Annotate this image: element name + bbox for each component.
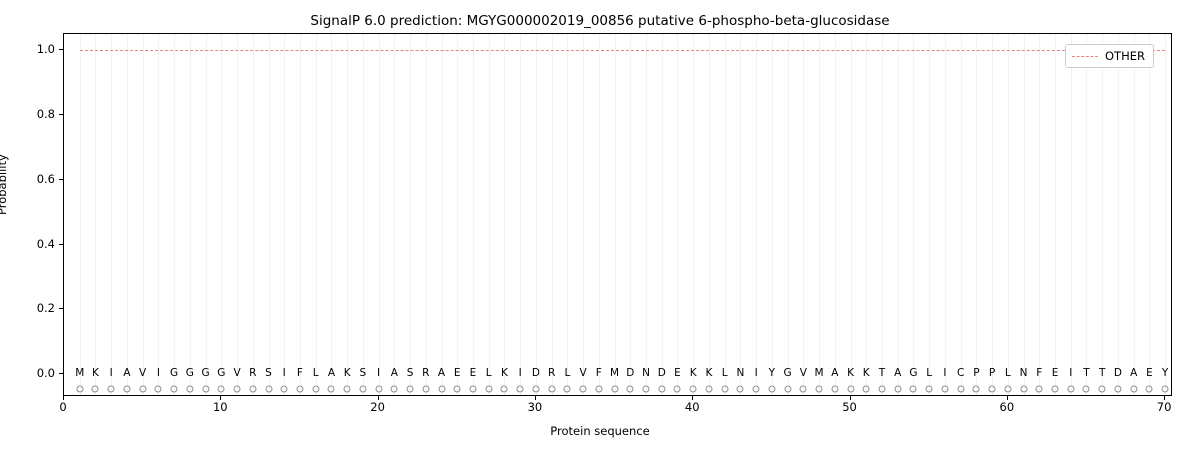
sequence-residue: I [110, 368, 113, 379]
sequence-residue: I [377, 368, 380, 379]
gridline [95, 34, 96, 395]
residue-marker [674, 385, 681, 392]
gridline [583, 34, 584, 395]
gridline [504, 34, 505, 395]
gridline [851, 34, 852, 395]
residue-marker [595, 385, 602, 392]
sequence-residue: N [1020, 368, 1028, 379]
y-tick-label: 0.4 [22, 237, 55, 251]
sequence-residue: S [265, 368, 272, 379]
series-line-other [80, 50, 1165, 51]
gridline [520, 34, 521, 395]
x-tick-label: 10 [213, 400, 228, 414]
residue-marker [1099, 385, 1106, 392]
residue-marker [863, 385, 870, 392]
x-tick-mark [692, 396, 693, 400]
residue-marker [249, 385, 256, 392]
gridline [331, 34, 332, 395]
residue-marker [690, 385, 697, 392]
sequence-residue: I [943, 368, 946, 379]
gridline [174, 34, 175, 395]
sequence-residue: K [690, 368, 697, 379]
residue-marker [910, 385, 917, 392]
sequence-residue: K [344, 368, 351, 379]
sequence-residue: D [626, 368, 634, 379]
residue-marker [312, 385, 319, 392]
residue-marker [1162, 385, 1169, 392]
sequence-residue: K [501, 368, 508, 379]
residue-marker [454, 385, 461, 392]
residue-marker [1067, 385, 1074, 392]
x-tick-label: 40 [685, 400, 700, 414]
y-tick-label: 0.2 [22, 301, 55, 315]
residue-marker [1052, 385, 1059, 392]
gridline [206, 34, 207, 395]
gridline [1149, 34, 1150, 395]
sequence-residue: I [157, 368, 160, 379]
y-tick-mark [59, 373, 63, 374]
gridline [316, 34, 317, 395]
sequence-residue: S [360, 368, 367, 379]
gridline [347, 34, 348, 395]
gridline [253, 34, 254, 395]
x-tick-mark [535, 396, 536, 400]
x-tick-mark [378, 396, 379, 400]
gridline [190, 34, 191, 395]
residue-marker [234, 385, 241, 392]
residue-marker [344, 385, 351, 392]
residue-marker [1130, 385, 1137, 392]
sequence-residue: L [926, 368, 932, 379]
x-axis-label: Protein sequence [0, 424, 1200, 438]
y-tick-label: 0.0 [22, 366, 55, 380]
x-tick-label: 0 [59, 400, 66, 414]
residue-marker [894, 385, 901, 392]
residue-marker [391, 385, 398, 392]
residue-marker [705, 385, 712, 392]
residue-marker [1004, 385, 1011, 392]
sequence-residue: A [831, 368, 838, 379]
sequence-residue: Y [769, 368, 775, 379]
gridline [300, 34, 301, 395]
gridline [442, 34, 443, 395]
gridline [615, 34, 616, 395]
residue-marker [941, 385, 948, 392]
sequence-residue: T [1099, 368, 1105, 379]
gridline [677, 34, 678, 395]
sequence-residue: I [519, 368, 522, 379]
residue-marker [989, 385, 996, 392]
gridline [725, 34, 726, 395]
gridline [284, 34, 285, 395]
residue-marker [438, 385, 445, 392]
gridline [1071, 34, 1072, 395]
sequence-residue: V [580, 368, 587, 379]
residue-marker [407, 385, 414, 392]
legend-line-other [1072, 56, 1098, 57]
sequence-residue: M [610, 368, 619, 379]
sequence-residue: L [722, 368, 728, 379]
residue-marker [123, 385, 130, 392]
sequence-residue: V [233, 368, 240, 379]
residue-marker [76, 385, 83, 392]
x-tick-mark [850, 396, 851, 400]
gridline [394, 34, 395, 395]
residue-marker [328, 385, 335, 392]
y-tick-label: 0.6 [22, 172, 55, 186]
sequence-residue: D [532, 368, 540, 379]
x-tick-label: 60 [1000, 400, 1015, 414]
sequence-residue: S [407, 368, 414, 379]
gridline [630, 34, 631, 395]
residue-marker [281, 385, 288, 392]
gridline [269, 34, 270, 395]
gridline [819, 34, 820, 395]
sequence-residue: F [297, 368, 303, 379]
residue-marker [218, 385, 225, 392]
gridline [221, 34, 222, 395]
residue-marker [564, 385, 571, 392]
gridline [898, 34, 899, 395]
gridline [1102, 34, 1103, 395]
sequence-residue: R [548, 368, 555, 379]
residue-marker [768, 385, 775, 392]
legend[interactable]: OTHER [1065, 44, 1154, 68]
sequence-residue: K [847, 368, 854, 379]
gridline [992, 34, 993, 395]
sequence-residue: A [1130, 368, 1137, 379]
gridline [756, 34, 757, 395]
gridline [709, 34, 710, 395]
residue-marker [155, 385, 162, 392]
sequence-residue: G [201, 368, 209, 379]
gridline [945, 34, 946, 395]
x-tick-label: 50 [842, 400, 857, 414]
gridline [158, 34, 159, 395]
sequence-residue: N [642, 368, 650, 379]
sequence-residue: A [438, 368, 445, 379]
gridline [772, 34, 773, 395]
gridline [457, 34, 458, 395]
sequence-residue: K [863, 368, 870, 379]
sequence-residue: M [75, 368, 84, 379]
gridline [552, 34, 553, 395]
residue-marker [265, 385, 272, 392]
y-tick-mark [59, 49, 63, 50]
signalp-prediction-figure: SignalP 6.0 prediction: MGYG000002019_00… [0, 0, 1200, 450]
sequence-residue: I [283, 368, 286, 379]
sequence-residue: Y [1162, 368, 1168, 379]
residue-marker [816, 385, 823, 392]
sequence-residue: F [1036, 368, 1042, 379]
sequence-residue: P [973, 368, 979, 379]
residue-marker [359, 385, 366, 392]
gridline [1039, 34, 1040, 395]
sequence-residue: A [328, 368, 335, 379]
residue-marker [296, 385, 303, 392]
gridline [1134, 34, 1135, 395]
gridline [803, 34, 804, 395]
sequence-residue: K [92, 368, 99, 379]
sequence-residue: R [422, 368, 429, 379]
residue-marker [737, 385, 744, 392]
sequence-residue: E [674, 368, 681, 379]
gridline [662, 34, 663, 395]
residue-marker [611, 385, 618, 392]
gridline [410, 34, 411, 395]
sequence-residue: G [217, 368, 225, 379]
sequence-residue: N [736, 368, 744, 379]
sequence-residue: R [249, 368, 256, 379]
residue-marker [108, 385, 115, 392]
gridline [1008, 34, 1009, 395]
x-tick-label: 20 [370, 400, 385, 414]
residue-marker [92, 385, 99, 392]
gridline [379, 34, 380, 395]
residue-marker [800, 385, 807, 392]
residue-marker [485, 385, 492, 392]
sequence-residue: C [957, 368, 964, 379]
y-tick-mark [59, 308, 63, 309]
residue-marker [501, 385, 508, 392]
sequence-residue: L [564, 368, 570, 379]
gridline [929, 34, 930, 395]
sequence-residue: D [1114, 368, 1122, 379]
gridline [866, 34, 867, 395]
residue-marker [1146, 385, 1153, 392]
residue-marker [878, 385, 885, 392]
gridline [1086, 34, 1087, 395]
sequence-residue: G [784, 368, 792, 379]
gridline [127, 34, 128, 395]
gridline [1118, 34, 1119, 395]
residue-marker [831, 385, 838, 392]
residue-marker [1114, 385, 1121, 392]
residue-marker [532, 385, 539, 392]
residue-marker [580, 385, 587, 392]
sequence-residue: G [909, 368, 917, 379]
residue-marker [658, 385, 665, 392]
y-tick-mark [59, 179, 63, 180]
legend-label-other: OTHER [1105, 49, 1145, 63]
y-tick-label: 1.0 [22, 42, 55, 56]
plot-area: MKIAVIGGGGVRSIFLAKSIASRAEELKIDRLVFMDNDEK… [63, 33, 1172, 396]
sequence-residue: F [596, 368, 602, 379]
sequence-residue: G [186, 368, 194, 379]
sequence-residue: A [894, 368, 901, 379]
residue-marker [627, 385, 634, 392]
y-tick-mark [59, 244, 63, 245]
residue-marker [957, 385, 964, 392]
sequence-residue: L [313, 368, 319, 379]
residue-marker [643, 385, 650, 392]
residue-marker [1020, 385, 1027, 392]
y-axis-label: Probability [0, 154, 9, 215]
residue-marker [517, 385, 524, 392]
gridline [426, 34, 427, 395]
sequence-residue: E [1052, 368, 1059, 379]
residue-marker [847, 385, 854, 392]
x-tick-mark [1164, 396, 1165, 400]
residue-marker [186, 385, 193, 392]
gridline [882, 34, 883, 395]
x-tick-mark [1007, 396, 1008, 400]
gridline [489, 34, 490, 395]
sequence-residue: P [989, 368, 995, 379]
gridline [961, 34, 962, 395]
gridline [567, 34, 568, 395]
gridline [473, 34, 474, 395]
residue-marker [784, 385, 791, 392]
residue-marker [469, 385, 476, 392]
gridline [1165, 34, 1166, 395]
gridline [788, 34, 789, 395]
gridline [740, 34, 741, 395]
sequence-residue: A [391, 368, 398, 379]
residue-marker [548, 385, 555, 392]
sequence-residue: E [1146, 368, 1153, 379]
gridline [80, 34, 81, 395]
residue-marker [753, 385, 760, 392]
residue-marker [973, 385, 980, 392]
gridline [363, 34, 364, 395]
x-tick-mark [220, 396, 221, 400]
sequence-residue: M [815, 368, 824, 379]
sequence-residue: V [139, 368, 146, 379]
sequence-residue: L [1005, 368, 1011, 379]
sequence-residue: K [705, 368, 712, 379]
sequence-residue: I [1069, 368, 1072, 379]
x-tick-mark [63, 396, 64, 400]
residue-marker [202, 385, 209, 392]
residue-marker [1036, 385, 1043, 392]
residue-marker [721, 385, 728, 392]
gridline [1024, 34, 1025, 395]
residue-marker [375, 385, 382, 392]
gridline [976, 34, 977, 395]
gridline [835, 34, 836, 395]
gridline [536, 34, 537, 395]
x-tick-label: 70 [1157, 400, 1172, 414]
y-tick-mark [59, 114, 63, 115]
sequence-residue: I [755, 368, 758, 379]
residue-marker [1083, 385, 1090, 392]
chart-title: SignalP 6.0 prediction: MGYG000002019_00… [0, 13, 1200, 29]
sequence-residue: T [879, 368, 885, 379]
gridline [646, 34, 647, 395]
gridline [913, 34, 914, 395]
sequence-residue: E [454, 368, 461, 379]
residue-marker [139, 385, 146, 392]
sequence-residue: E [470, 368, 477, 379]
gridline [143, 34, 144, 395]
sequence-residue: A [123, 368, 130, 379]
gridline [693, 34, 694, 395]
gridline [1055, 34, 1056, 395]
gridline [599, 34, 600, 395]
x-tick-label: 30 [528, 400, 543, 414]
residue-marker [422, 385, 429, 392]
y-tick-label: 0.8 [22, 107, 55, 121]
sequence-residue: G [170, 368, 178, 379]
sequence-residue: D [658, 368, 666, 379]
gridline [111, 34, 112, 395]
gridline [237, 34, 238, 395]
residue-marker [926, 385, 933, 392]
residue-marker [171, 385, 178, 392]
sequence-residue: T [1083, 368, 1089, 379]
sequence-residue: L [486, 368, 492, 379]
sequence-residue: V [800, 368, 807, 379]
